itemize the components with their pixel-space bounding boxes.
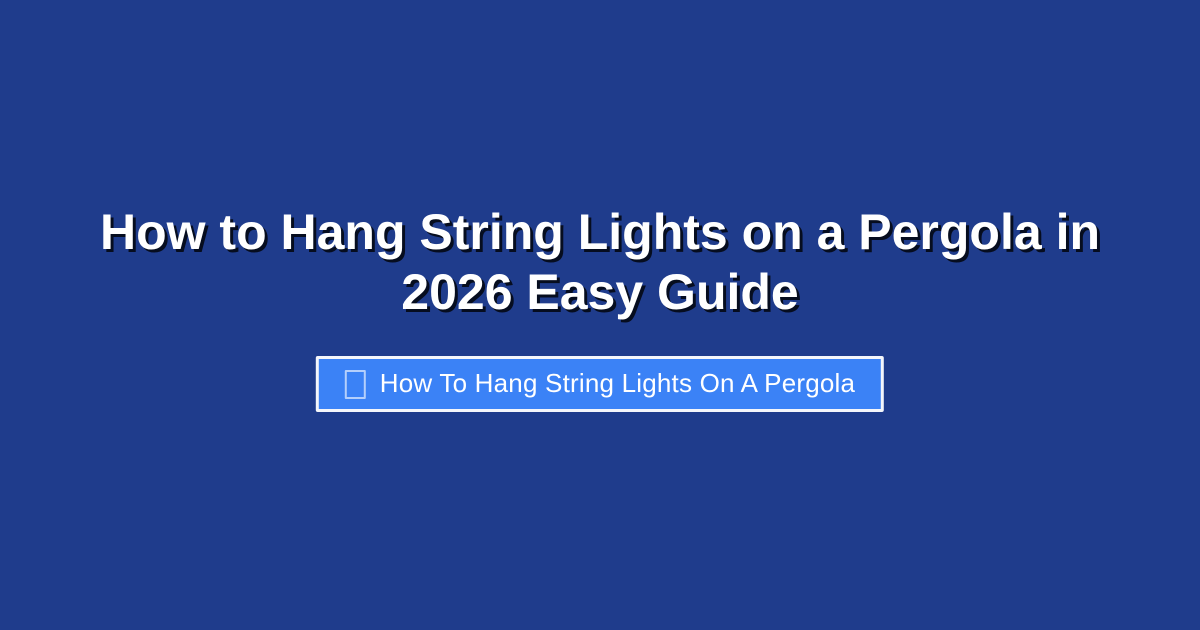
social-preview-card: How to Hang String Lights on a Pergola i… (0, 0, 1200, 630)
page-title: How to Hang String Lights on a Pergola i… (0, 202, 1200, 322)
cta-button[interactable]: How To Hang String Lights On A Pergola (316, 356, 884, 412)
cta-button-label: How To Hang String Lights On A Pergola (380, 368, 855, 398)
missing-glyph-tofu-icon (345, 370, 366, 399)
